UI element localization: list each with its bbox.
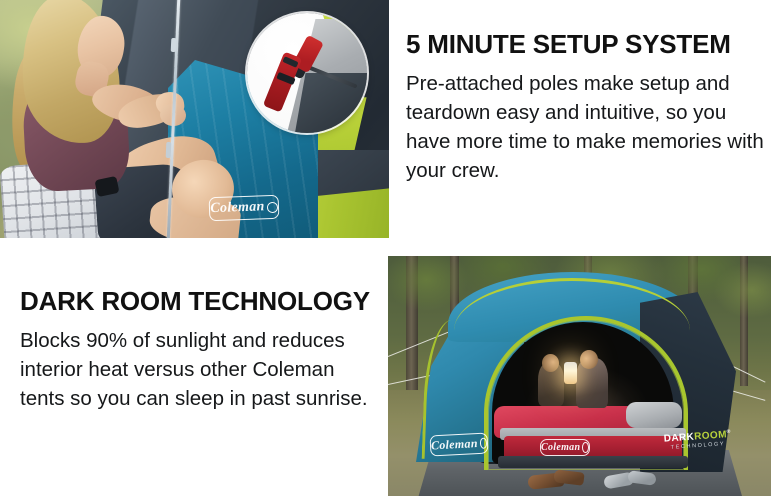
- coleman-roundel-icon: [266, 201, 277, 212]
- camping-lantern: [564, 362, 577, 384]
- child-right-head: [580, 350, 598, 369]
- darkroom-badge-registered: ®: [726, 429, 731, 435]
- coleman-logo-airbed: Coleman: [540, 439, 590, 456]
- photo-dark-room-technology: Coleman Coleman DARKROOM® TECHNOLOGY: [388, 256, 771, 496]
- feature-body: Pre-attached poles make setup and teardo…: [406, 70, 766, 186]
- tent-pole-ferrule-lower: [166, 142, 172, 158]
- coleman-logo-tent: Coleman: [209, 195, 280, 221]
- feature-callout-page: Coleman 5 MINUTE SETUP SYSTEM Pre-attach…: [0, 0, 771, 496]
- feature-body: Blocks 90% of sunlight and reduces inter…: [20, 327, 380, 414]
- feature-text-dark-room-technology: DARK ROOM TECHNOLOGY Blocks 90% of sunli…: [20, 287, 380, 414]
- coleman-logo-text: Coleman: [431, 436, 479, 453]
- pillow: [626, 402, 682, 428]
- inset-dark-fabric: [292, 73, 367, 133]
- photo-five-minute-setup: Coleman: [0, 0, 389, 238]
- coleman-logo-text: Coleman: [210, 199, 265, 217]
- coleman-roundel-icon: [582, 442, 589, 453]
- darkroom-badge-dark: DARK: [663, 432, 694, 445]
- feature-title: 5 MINUTE SETUP SYSTEM: [406, 30, 766, 58]
- coleman-roundel-icon: [479, 438, 487, 449]
- feature-title: DARK ROOM TECHNOLOGY: [20, 287, 380, 315]
- feature-text-five-minute-setup: 5 MINUTE SETUP SYSTEM Pre-attached poles…: [406, 30, 766, 186]
- tent-pole-ferrule-upper: [171, 38, 177, 52]
- child-left-head: [542, 354, 559, 372]
- airbed-base: [498, 456, 688, 468]
- pole-hub-detail-inset: [247, 13, 367, 133]
- coleman-logo-tent: Coleman: [429, 432, 488, 456]
- coleman-logo-text: Coleman: [541, 442, 580, 453]
